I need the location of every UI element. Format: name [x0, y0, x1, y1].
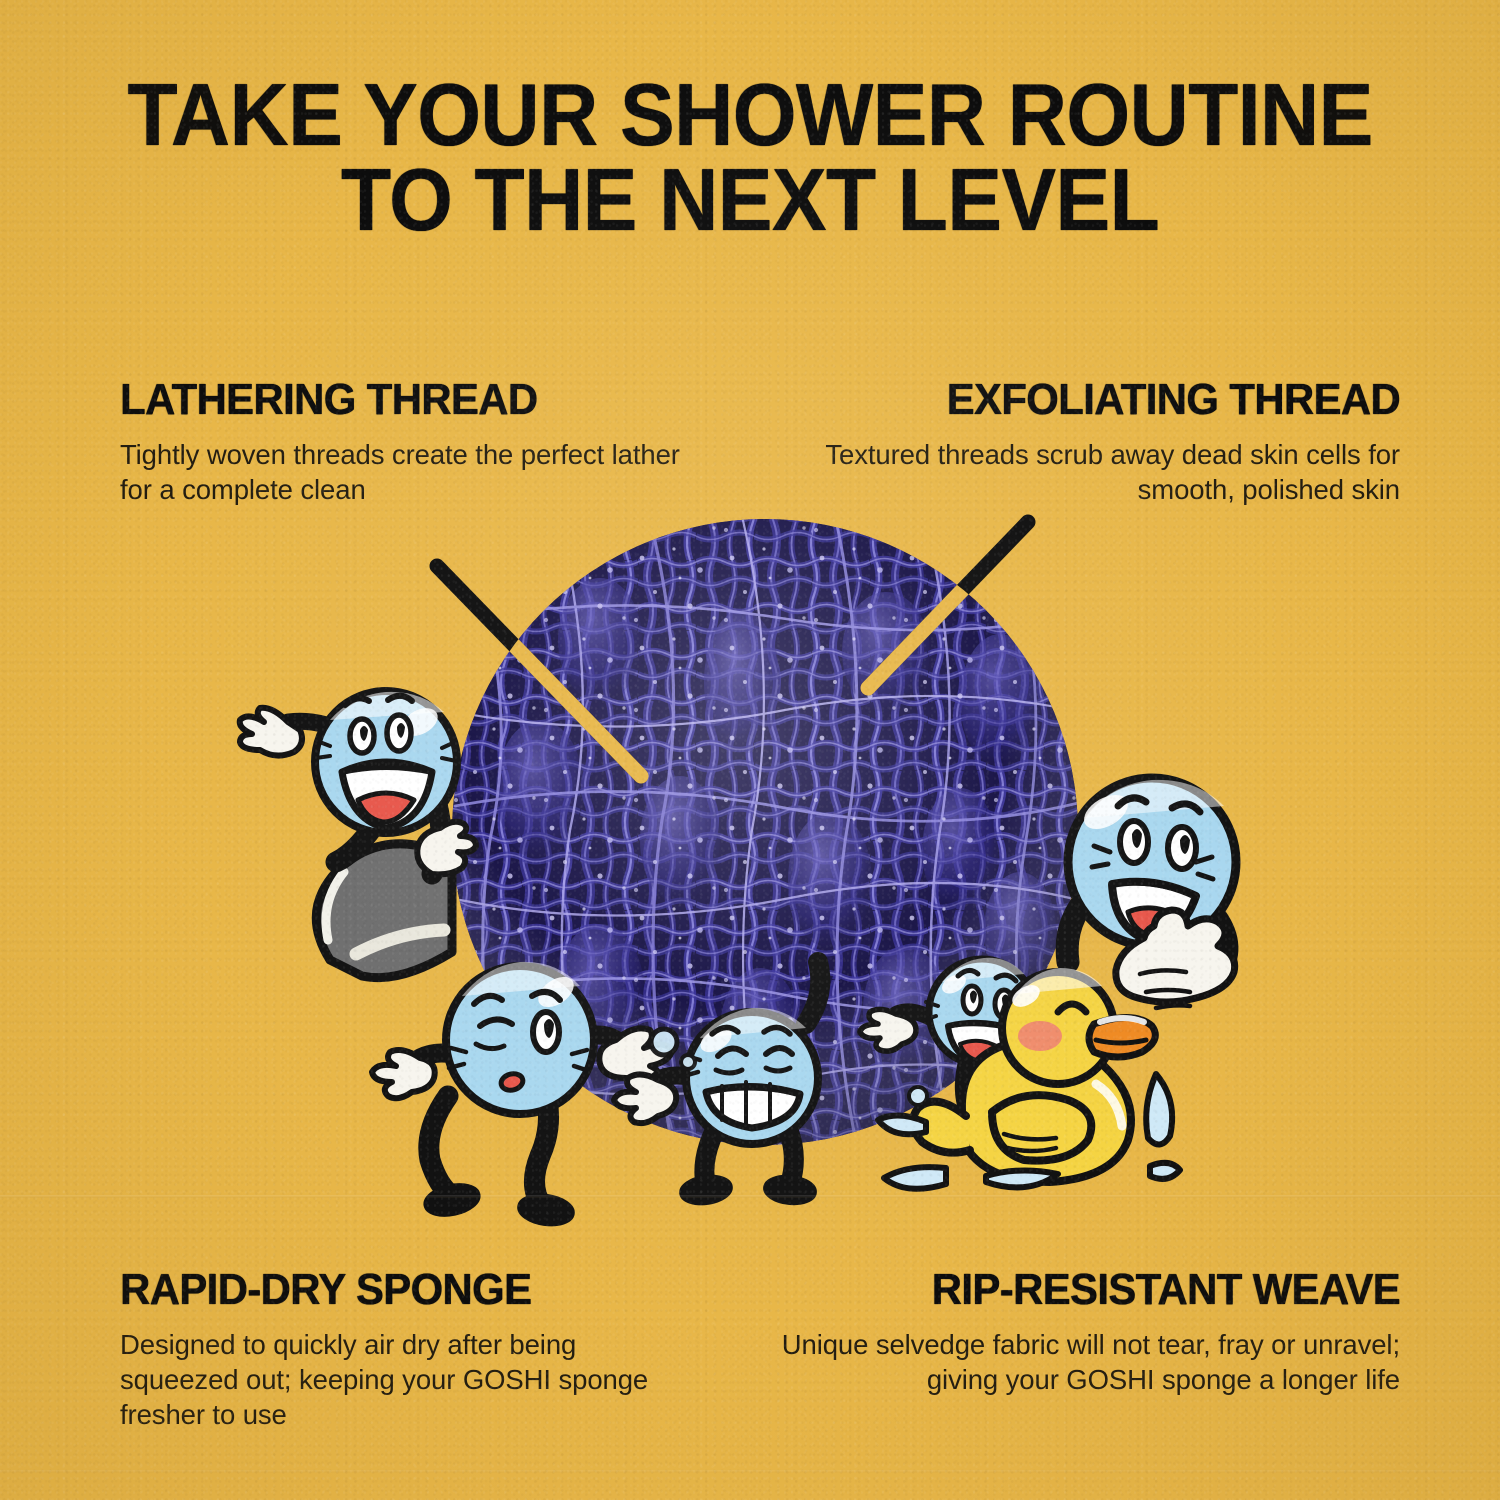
pointer-lines	[437, 522, 1028, 776]
feature-description: Unique selvedge fabric will not tear, fr…	[780, 1327, 1400, 1397]
bubble-grin	[614, 962, 820, 1205]
feature-rip-resistant-weave: RIP-RESISTANT WEAVE Unique selvedge fabr…	[780, 1268, 1400, 1397]
feature-rapid-dry-sponge: RAPID-DRY SPONGE Designed to quickly air…	[120, 1268, 700, 1433]
lathering-pointer-outer	[437, 566, 641, 776]
feature-description: Tightly woven threads create the perfect…	[120, 437, 680, 507]
feature-title: EXFOLIATING THREAD	[821, 378, 1401, 422]
rubber-duck	[878, 968, 1180, 1189]
bubble-walking	[372, 962, 672, 1227]
paper-seam-top	[0, 1195, 1500, 1198]
feature-description: Textured threads scrub away dead skin ce…	[790, 437, 1400, 507]
water-splashes	[878, 1074, 1180, 1189]
feature-exfoliating-thread: EXFOLIATING THREAD Textured threads scru…	[790, 378, 1400, 507]
headline-line-2: TO THE NEXT LEVEL	[53, 157, 1448, 242]
infographic-poster: TAKE YOUR SHOWER ROUTINE TO THE NEXT LEV…	[0, 0, 1500, 1500]
bubble-waving	[240, 691, 476, 874]
feature-title: RIP-RESISTANT WEAVE	[811, 1268, 1400, 1312]
headline-line-1: TAKE YOUR SHOWER ROUTINE	[127, 65, 1372, 164]
grey-loofah	[316, 844, 452, 978]
exfoliating-pointer-inner	[868, 522, 1028, 688]
paper-seam-bottom	[0, 1470, 1500, 1473]
exfoliating-pointer-outer	[868, 522, 1028, 688]
lathering-pointer-inner	[437, 566, 641, 776]
glove-left	[240, 708, 302, 756]
feature-lathering-thread: LATHERING THREAD Tightly woven threads c…	[120, 378, 680, 507]
weave-circle	[450, 515, 1090, 1151]
bubble-chin	[1067, 778, 1236, 1008]
bubble-duck	[860, 958, 1035, 1118]
feature-title: RAPID-DRY SPONGE	[120, 1268, 671, 1312]
glove-right	[417, 822, 476, 875]
feature-description: Designed to quickly air dry after being …	[120, 1327, 700, 1433]
feature-title: LATHERING THREAD	[120, 378, 652, 422]
page-title: TAKE YOUR SHOWER ROUTINE TO THE NEXT LEV…	[53, 72, 1448, 243]
